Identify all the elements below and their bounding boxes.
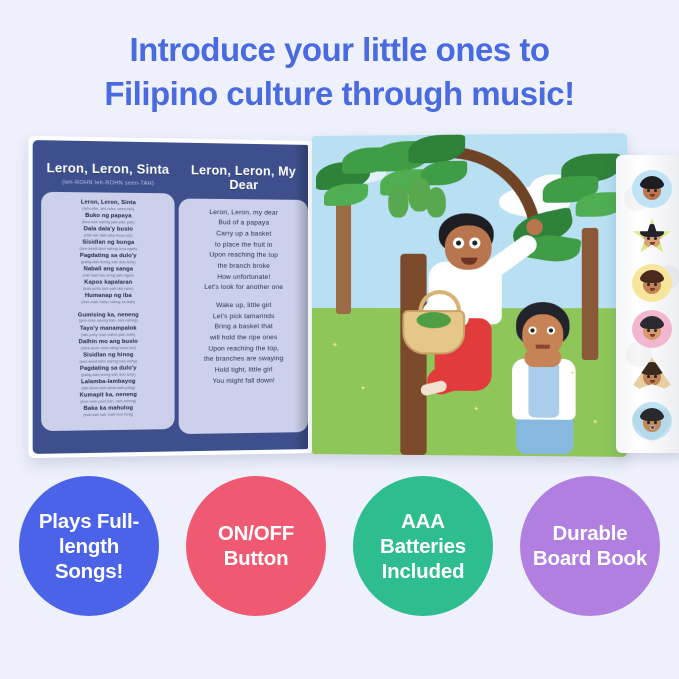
book-left-page: Leron, Leron, Sinta (leh-ROHN leh-ROHN s… — [28, 136, 312, 458]
verse-gap — [183, 294, 304, 301]
lyric-phonetic: (hoo-mah-nahp nahng ee-bah) — [45, 301, 170, 306]
lyric-line: Pagdating sa dulo'y(pahg-dah-teeng sah d… — [45, 253, 170, 266]
page-title: Introduce your little ones to Filipino c… — [0, 28, 679, 115]
lyric-line: Kapos kapalaran(kah-pohs kah-pah-lah-rah… — [45, 280, 170, 292]
lyric-line: Lalamba-lambayog(lah-lahm-bah-lahm-bah-y… — [45, 378, 170, 392]
girl-pupil-left — [530, 328, 534, 332]
sound-button-star-shape — [632, 218, 672, 256]
face-eye-right — [654, 237, 657, 240]
lyric-line-english: Upon reaching the top, — [183, 344, 304, 355]
english-lyrics-card: Leron, Leron, my dearBud of a papayaCarr… — [179, 198, 308, 434]
lyric-line-english: Upon reaching the top — [183, 251, 304, 262]
feature-badges: Plays Full-length Songs!ON/OFF ButtonAAA… — [0, 476, 679, 626]
lyric-line-english: How unfortunate! — [183, 272, 304, 283]
sound-button-circle-shape — [632, 310, 672, 348]
lyric-phonetic: (see-seed-lahn nahng boo-ngah) — [45, 247, 170, 253]
man-pupil-left — [456, 241, 461, 246]
feature-on-off-button: ON/OFF Button — [186, 476, 326, 616]
book-right-page-illustration: ✦ ✦ ✦ ✦ ✦ — [312, 133, 627, 457]
man-hand-grip — [526, 219, 542, 235]
papaya-fruit-2 — [388, 185, 408, 217]
lyric-phonetic: (pahg-dah-teeng sah doo-lohy) — [45, 260, 170, 266]
song-title-tagalog: Leron, Leron, Sinta — [41, 161, 174, 178]
face-eye-left — [647, 283, 650, 286]
sound-button-girl-star[interactable] — [630, 217, 674, 257]
lyric-line-english: Wake up, little girl — [183, 301, 304, 312]
lyric-line-english: Carry up a basket — [183, 229, 304, 241]
face-eye-left — [647, 375, 650, 378]
heart-shape — [628, 403, 676, 445]
lyric-line: Sisidlan ng hinog(see-seed-lahn nahng he… — [45, 351, 170, 364]
song-title-english: Leron, Leron, My Dear — [179, 163, 308, 194]
sound-button-man[interactable] — [630, 169, 674, 209]
sound-button-hat-shape — [632, 356, 672, 394]
page-spine-shadow — [294, 145, 308, 450]
face-hair — [640, 224, 664, 237]
face-eye-left — [647, 329, 650, 332]
song-title-pronunciation: (leh-ROHN leh-ROHN seen-TAH) — [41, 180, 174, 188]
face-hair — [640, 176, 664, 189]
girl-pupil-right — [549, 328, 553, 332]
lyric-phonetic: (kah-pohs kah-pah-lah-rahn) — [45, 287, 170, 292]
lyric-line-english: You might fall down! — [183, 376, 304, 388]
lyric-line: Baka ka mahulog(bah-kah kah mah-hoo-lohg… — [45, 404, 170, 418]
face-hair — [640, 316, 664, 329]
sound-button-panel — [616, 155, 679, 453]
lyric-line: Dalhin mo ang buslo(dahl-heen moh ahng b… — [45, 338, 170, 351]
headline-line-2: Filipino culture through music! — [0, 72, 679, 116]
lyric-line: Pagdating sa dulo'y(pahg-dah-teeng sah d… — [45, 365, 170, 378]
speaker-grille — [628, 403, 676, 445]
face-eye-left — [647, 189, 650, 192]
lyric-line: Sisidlan ng bunga(see-seed-lahn nahng bo… — [45, 240, 170, 253]
lyric-phonetic: (boo-koh nahng pah-pah-yah) — [45, 220, 170, 226]
lyric-phonetic: (see-seed-lahn nahng hee-nohg) — [45, 359, 170, 365]
character-face-icon — [639, 176, 665, 202]
sound-button-woman[interactable] — [630, 263, 674, 303]
sparkle-4: ✦ — [569, 369, 575, 377]
sparkle-1: ✦ — [332, 341, 338, 349]
lyric-phonetic: (goo-mee-seeng kah, neh-nehng) — [45, 319, 170, 325]
feature-plays-full-length-songs: Plays Full-length Songs! — [19, 476, 159, 616]
lyric-line-english: will hold the ripe ones — [183, 333, 304, 344]
face-hair — [640, 270, 664, 283]
tagalog-lyrics-card: Leron, Leron, Sinta(leh-rohn, leh-rohn, … — [41, 192, 174, 431]
speaker-dot — [650, 425, 655, 430]
sparkle-3: ✦ — [473, 405, 479, 413]
girl-hands-over-mouth — [524, 349, 561, 367]
lyric-line: Gumising ka, neneng(goo-mee-seeng kah, n… — [45, 312, 170, 325]
lyric-line-english: to place the fruit in — [183, 240, 304, 251]
headline-line-1: Introduce your little ones to — [129, 31, 549, 68]
lyrics-column-tagalog: Leron, Leron, Sinta (leh-ROHN leh-ROHN s… — [41, 161, 174, 432]
face-eye-right — [654, 189, 657, 192]
sparkle-5: ✦ — [592, 418, 598, 426]
character-face-icon — [639, 224, 665, 250]
tree-trunk-left — [336, 194, 351, 314]
man-pupil-right — [472, 240, 477, 245]
sound-button-farmer-hat[interactable] — [630, 355, 674, 395]
face-eye-right — [654, 283, 657, 286]
face-hair — [640, 362, 664, 375]
sound-button-girl-pink[interactable] — [630, 309, 674, 349]
lyric-line: Nabali ang sanga(nah-bah-lee ahng sah-ng… — [45, 267, 170, 280]
sparkle-2: ✦ — [360, 384, 366, 392]
lyric-line-english: Let's look for another one — [183, 283, 304, 294]
lyric-line: Buko ng papaya(boo-koh nahng pah-pah-yah… — [45, 213, 170, 226]
sound-button-circle-shape — [632, 170, 672, 208]
girl-apron — [528, 361, 559, 418]
character-face-icon — [639, 362, 665, 388]
lyric-phonetic: (dah-lah dah-lahy boos-loh) — [45, 233, 170, 239]
face-eye-right — [654, 375, 657, 378]
lyrics-column-english: Leron, Leron, My Dear Leron, Leron, my d… — [179, 163, 308, 434]
lyric-line: Humanap ng iba(hoo-mah-nahp nahng ee-bah… — [45, 293, 170, 305]
lyric-line: Leron, Leron, Sinta(leh-rohn, leh-rohn, … — [45, 199, 170, 213]
lyric-phonetic: (nah-bah-lee ahng sah-ngah) — [45, 274, 170, 279]
sound-button-circle-shape — [632, 264, 672, 302]
feature-durable-board-book: Durable Board Book — [520, 476, 660, 616]
lyric-phonetic: (dahl-heen moh ahng boos-loh) — [45, 345, 170, 351]
illustration-scene: ✦ ✦ ✦ ✦ ✦ — [312, 133, 627, 457]
lyric-line-english: Bring a basket that — [183, 322, 304, 333]
lyric-line-english: Let's pick tamarinds — [183, 312, 304, 323]
face-eye-right — [654, 329, 657, 332]
lyric-line-english: the branch broke — [183, 262, 304, 273]
lyric-phonetic: (bah-kah kah mah-hoo-lohg) — [45, 411, 170, 418]
face-eye-left — [647, 237, 650, 240]
character-face-icon — [639, 270, 665, 296]
character-face-icon — [639, 316, 665, 342]
lyric-phonetic: (tah-yohy mah-nahm-pah-lohk) — [45, 332, 170, 338]
feature-aaa-batteries-included: AAA Batteries Included — [353, 476, 493, 616]
character-girl-watching — [502, 302, 592, 454]
product-infographic: Introduce your little ones to Filipino c… — [0, 0, 679, 679]
lyric-text-tagalog: Humanap ng iba — [45, 293, 170, 300]
board-book: Leron, Leron, Sinta (leh-ROHN leh-ROHN s… — [30, 133, 670, 463]
lyric-line: Tayo'y manampalok(tah-yohy mah-nahm-pah-… — [45, 325, 170, 338]
lyric-line: Kumapit ka, neneng(koo-mah-peet kah, neh… — [45, 391, 170, 405]
girl-skirt — [516, 415, 573, 454]
lyric-line: Dala dala'y buslo(dah-lah dah-lahy boos-… — [45, 226, 170, 239]
basket-fruit — [416, 312, 450, 328]
